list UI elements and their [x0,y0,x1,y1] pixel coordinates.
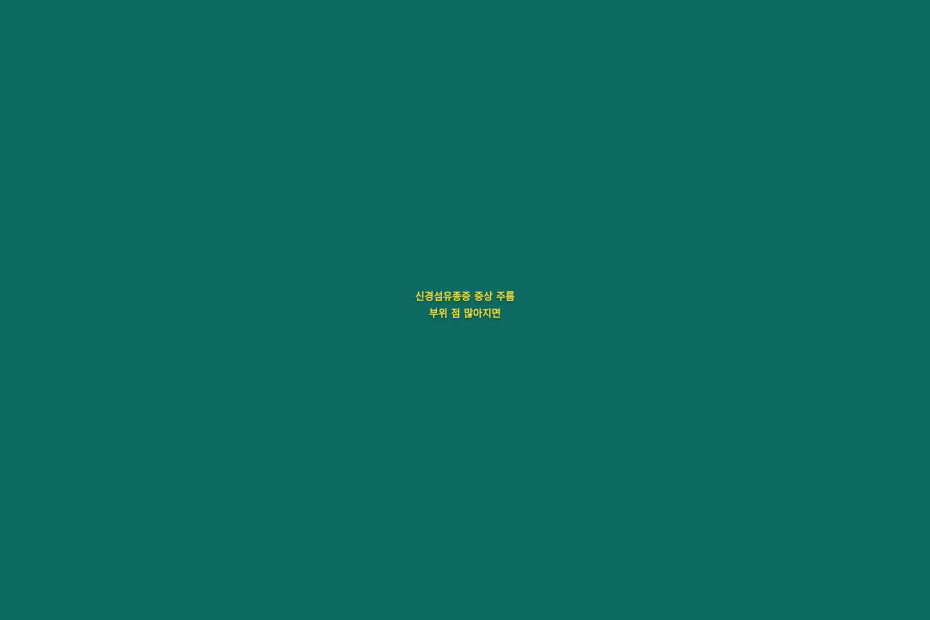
headline-block: 신경섬유종증 증상 주름 부위 점 많아지면 [0,293,930,320]
text-banner: 신경섬유종증 증상 주름 부위 점 많아지면 [0,0,930,620]
headline-line-2: 부위 점 많아지면 [0,310,930,321]
headline-line-1: 신경섬유종증 증상 주름 [0,293,930,304]
